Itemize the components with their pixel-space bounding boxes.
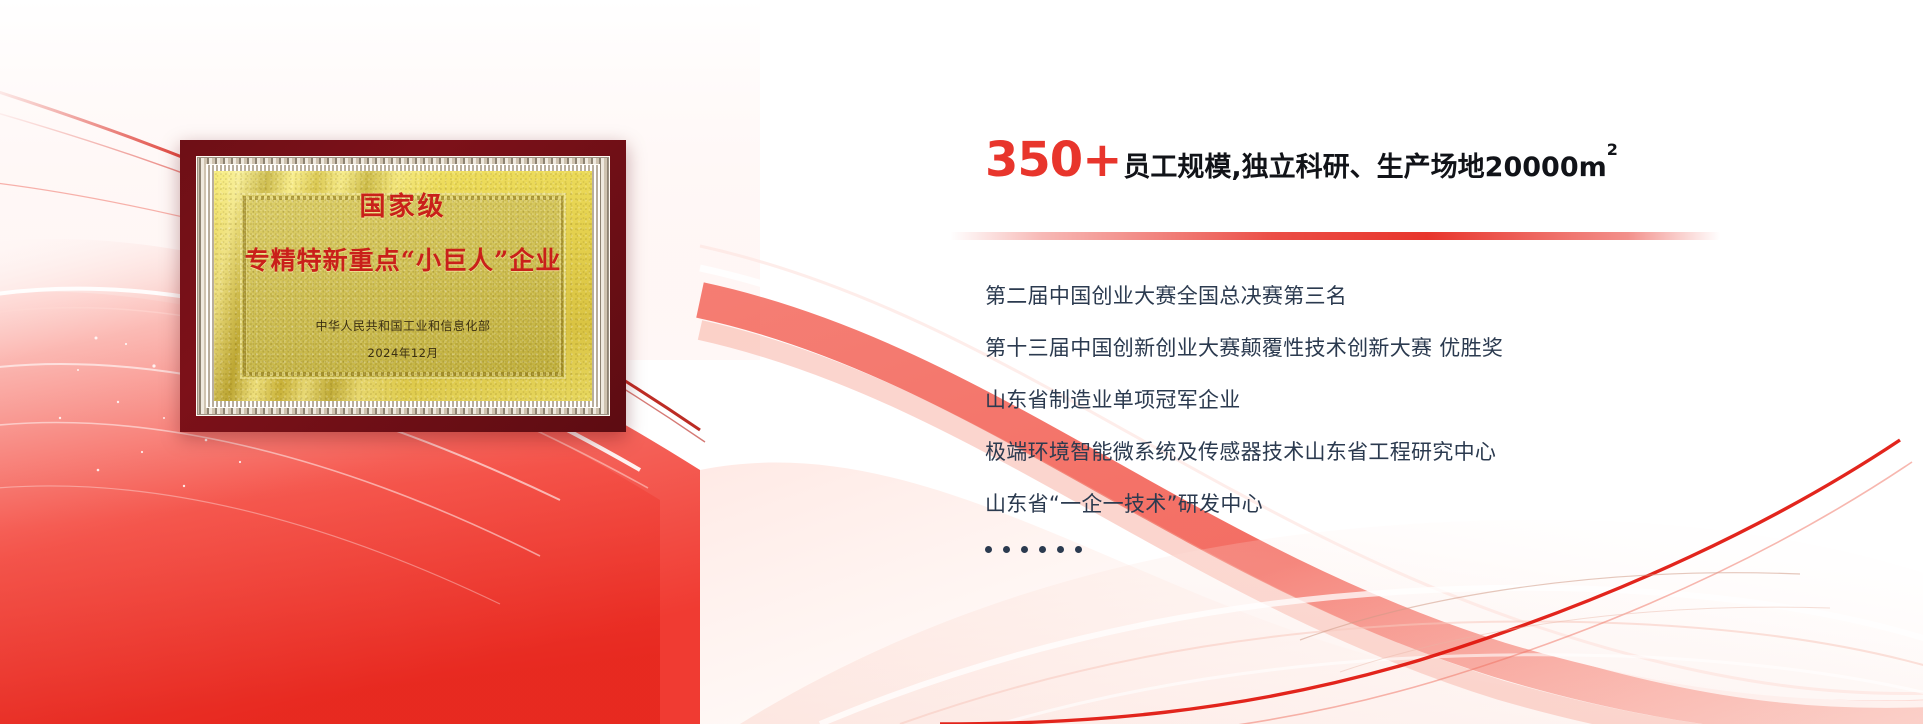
list-item: 第十三届中国创新创业大赛颠覆性技术创新大赛 优胜奖 xyxy=(985,338,1865,359)
plaque-issuer: 中华人民共和国工业和信息化部 xyxy=(315,317,490,334)
plaque-title-national: 国家级 xyxy=(359,186,446,223)
plaque-title-main: 专精特新重点“小巨人”企业 xyxy=(245,241,562,277)
ellipsis-dot xyxy=(985,546,992,553)
ellipsis-dot xyxy=(1075,546,1082,553)
plaque-text-block: 国家级 专精特新重点“小巨人”企业 中华人民共和国工业和信息化部 2024年12… xyxy=(180,140,626,432)
headline-superscript: 2 xyxy=(1607,140,1618,159)
banner-stage: 国家级 专精特新重点“小巨人”企业 中华人民共和国工业和信息化部 2024年12… xyxy=(0,0,1923,724)
ellipsis-dots xyxy=(985,546,1865,553)
list-item: 第二届中国创业大赛全国总决赛第三名 xyxy=(985,286,1865,307)
headline: 350+ 员工规模,独立科研、生产场地20000m2 xyxy=(985,136,1865,192)
ellipsis-dot xyxy=(1003,546,1010,553)
award-plaque: 国家级 专精特新重点“小巨人”企业 中华人民共和国工业和信息化部 2024年12… xyxy=(180,140,626,432)
ellipsis-dot xyxy=(1057,546,1064,553)
list-item: 极端环境智能微系统及传感器技术山东省工程研究中心 xyxy=(985,442,1865,463)
content-column: 350+ 员工规模,独立科研、生产场地20000m2 第二届中国创业大赛全国总决… xyxy=(985,136,1865,192)
plaque-frame: 国家级 专精特新重点“小巨人”企业 中华人民共和国工业和信息化部 2024年12… xyxy=(180,140,626,432)
headline-text-body: 员工规模,独立科研、生产场地20000m xyxy=(1123,152,1606,183)
plaque-date: 2024年12月 xyxy=(368,345,439,361)
achievements-list: 第二届中国创业大赛全国总决赛第三名 第十三届中国创新创业大赛颠覆性技术创新大赛 … xyxy=(985,286,1865,553)
ellipsis-dot xyxy=(1021,546,1028,553)
ellipsis-dot xyxy=(1039,546,1046,553)
list-item: 山东省“一企一技术”研发中心 xyxy=(985,494,1865,515)
headline-text: 员工规模,独立科研、生产场地20000m2 xyxy=(1123,154,1617,181)
list-item: 山东省制造业单项冠军企业 xyxy=(985,390,1865,411)
headline-underline-bar xyxy=(950,232,1720,240)
headline-number: 350+ xyxy=(985,136,1121,184)
